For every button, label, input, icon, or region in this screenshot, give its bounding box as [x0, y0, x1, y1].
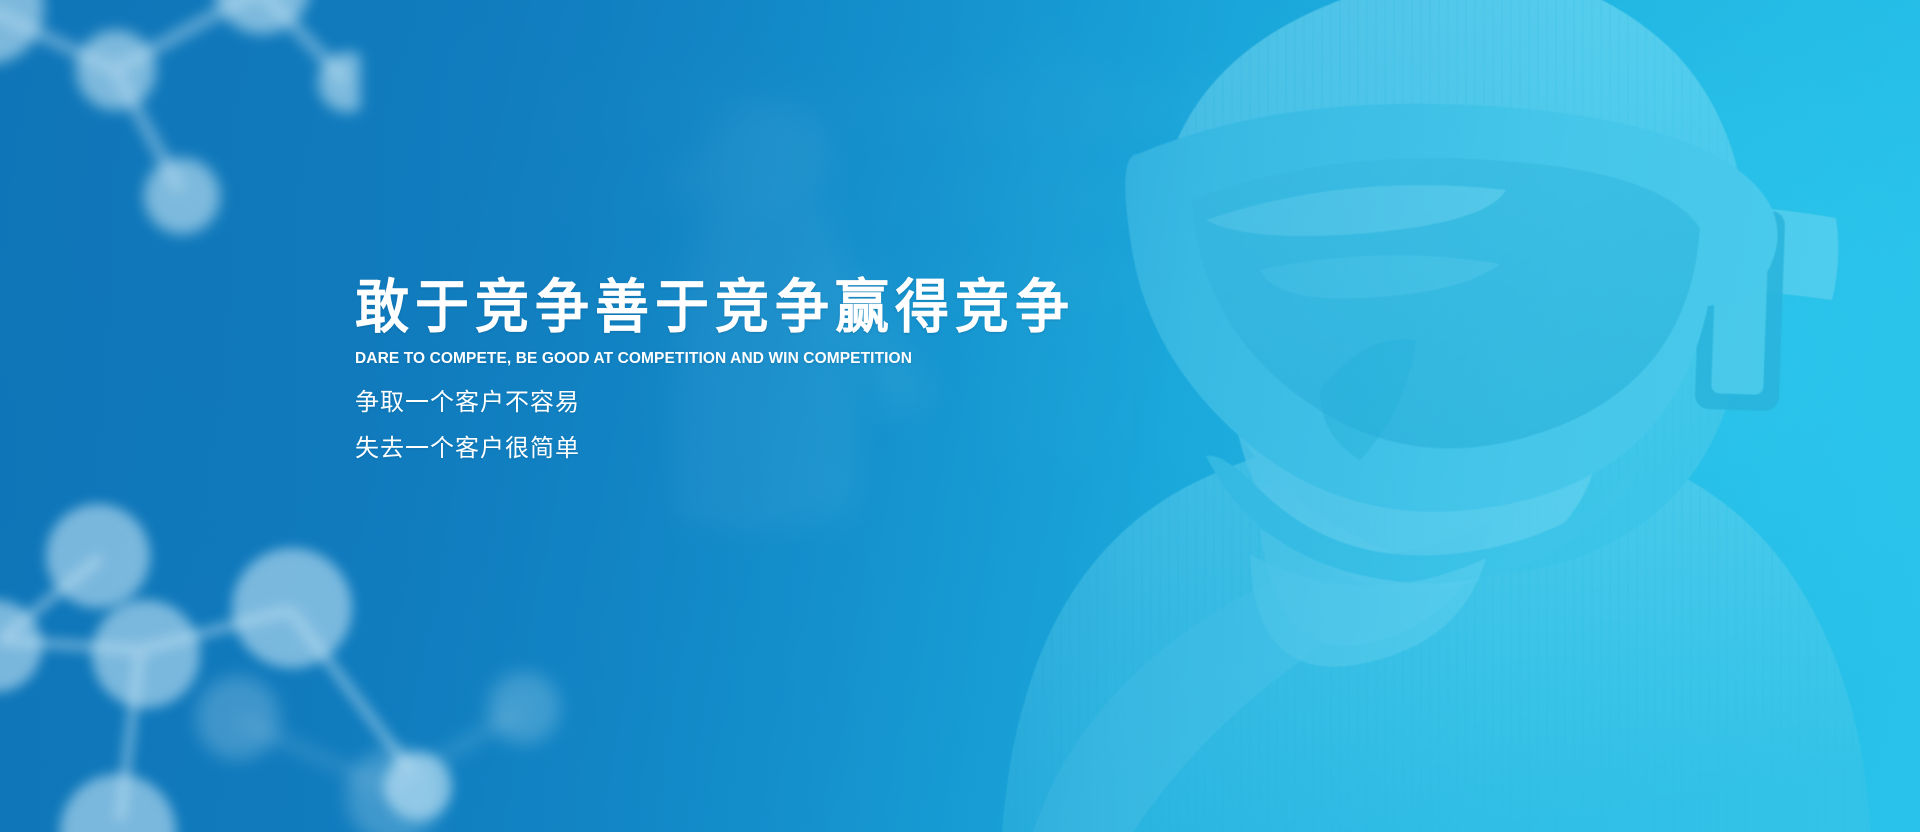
molecule-top-left-icon [0, 0, 360, 250]
banner-tagline-1: 争取一个客户不容易 [355, 389, 1255, 415]
hero-banner: 敢于竞争善于竞争赢得竞争 DARE TO COMPETE, BE GOOD AT… [0, 0, 1920, 832]
banner-tagline-2: 失去一个客户很简单 [355, 435, 1255, 461]
banner-content: 敢于竞争善于竞争赢得竞争 DARE TO COMPETE, BE GOOD AT… [355, 276, 1255, 461]
banner-subtitle-english: DARE TO COMPETE, BE GOOD AT COMPETITION … [355, 350, 1255, 368]
molecule-bottom-left-secondary-icon [150, 600, 570, 832]
banner-headline: 敢于竞争善于竞争赢得竞争 [355, 276, 1255, 339]
